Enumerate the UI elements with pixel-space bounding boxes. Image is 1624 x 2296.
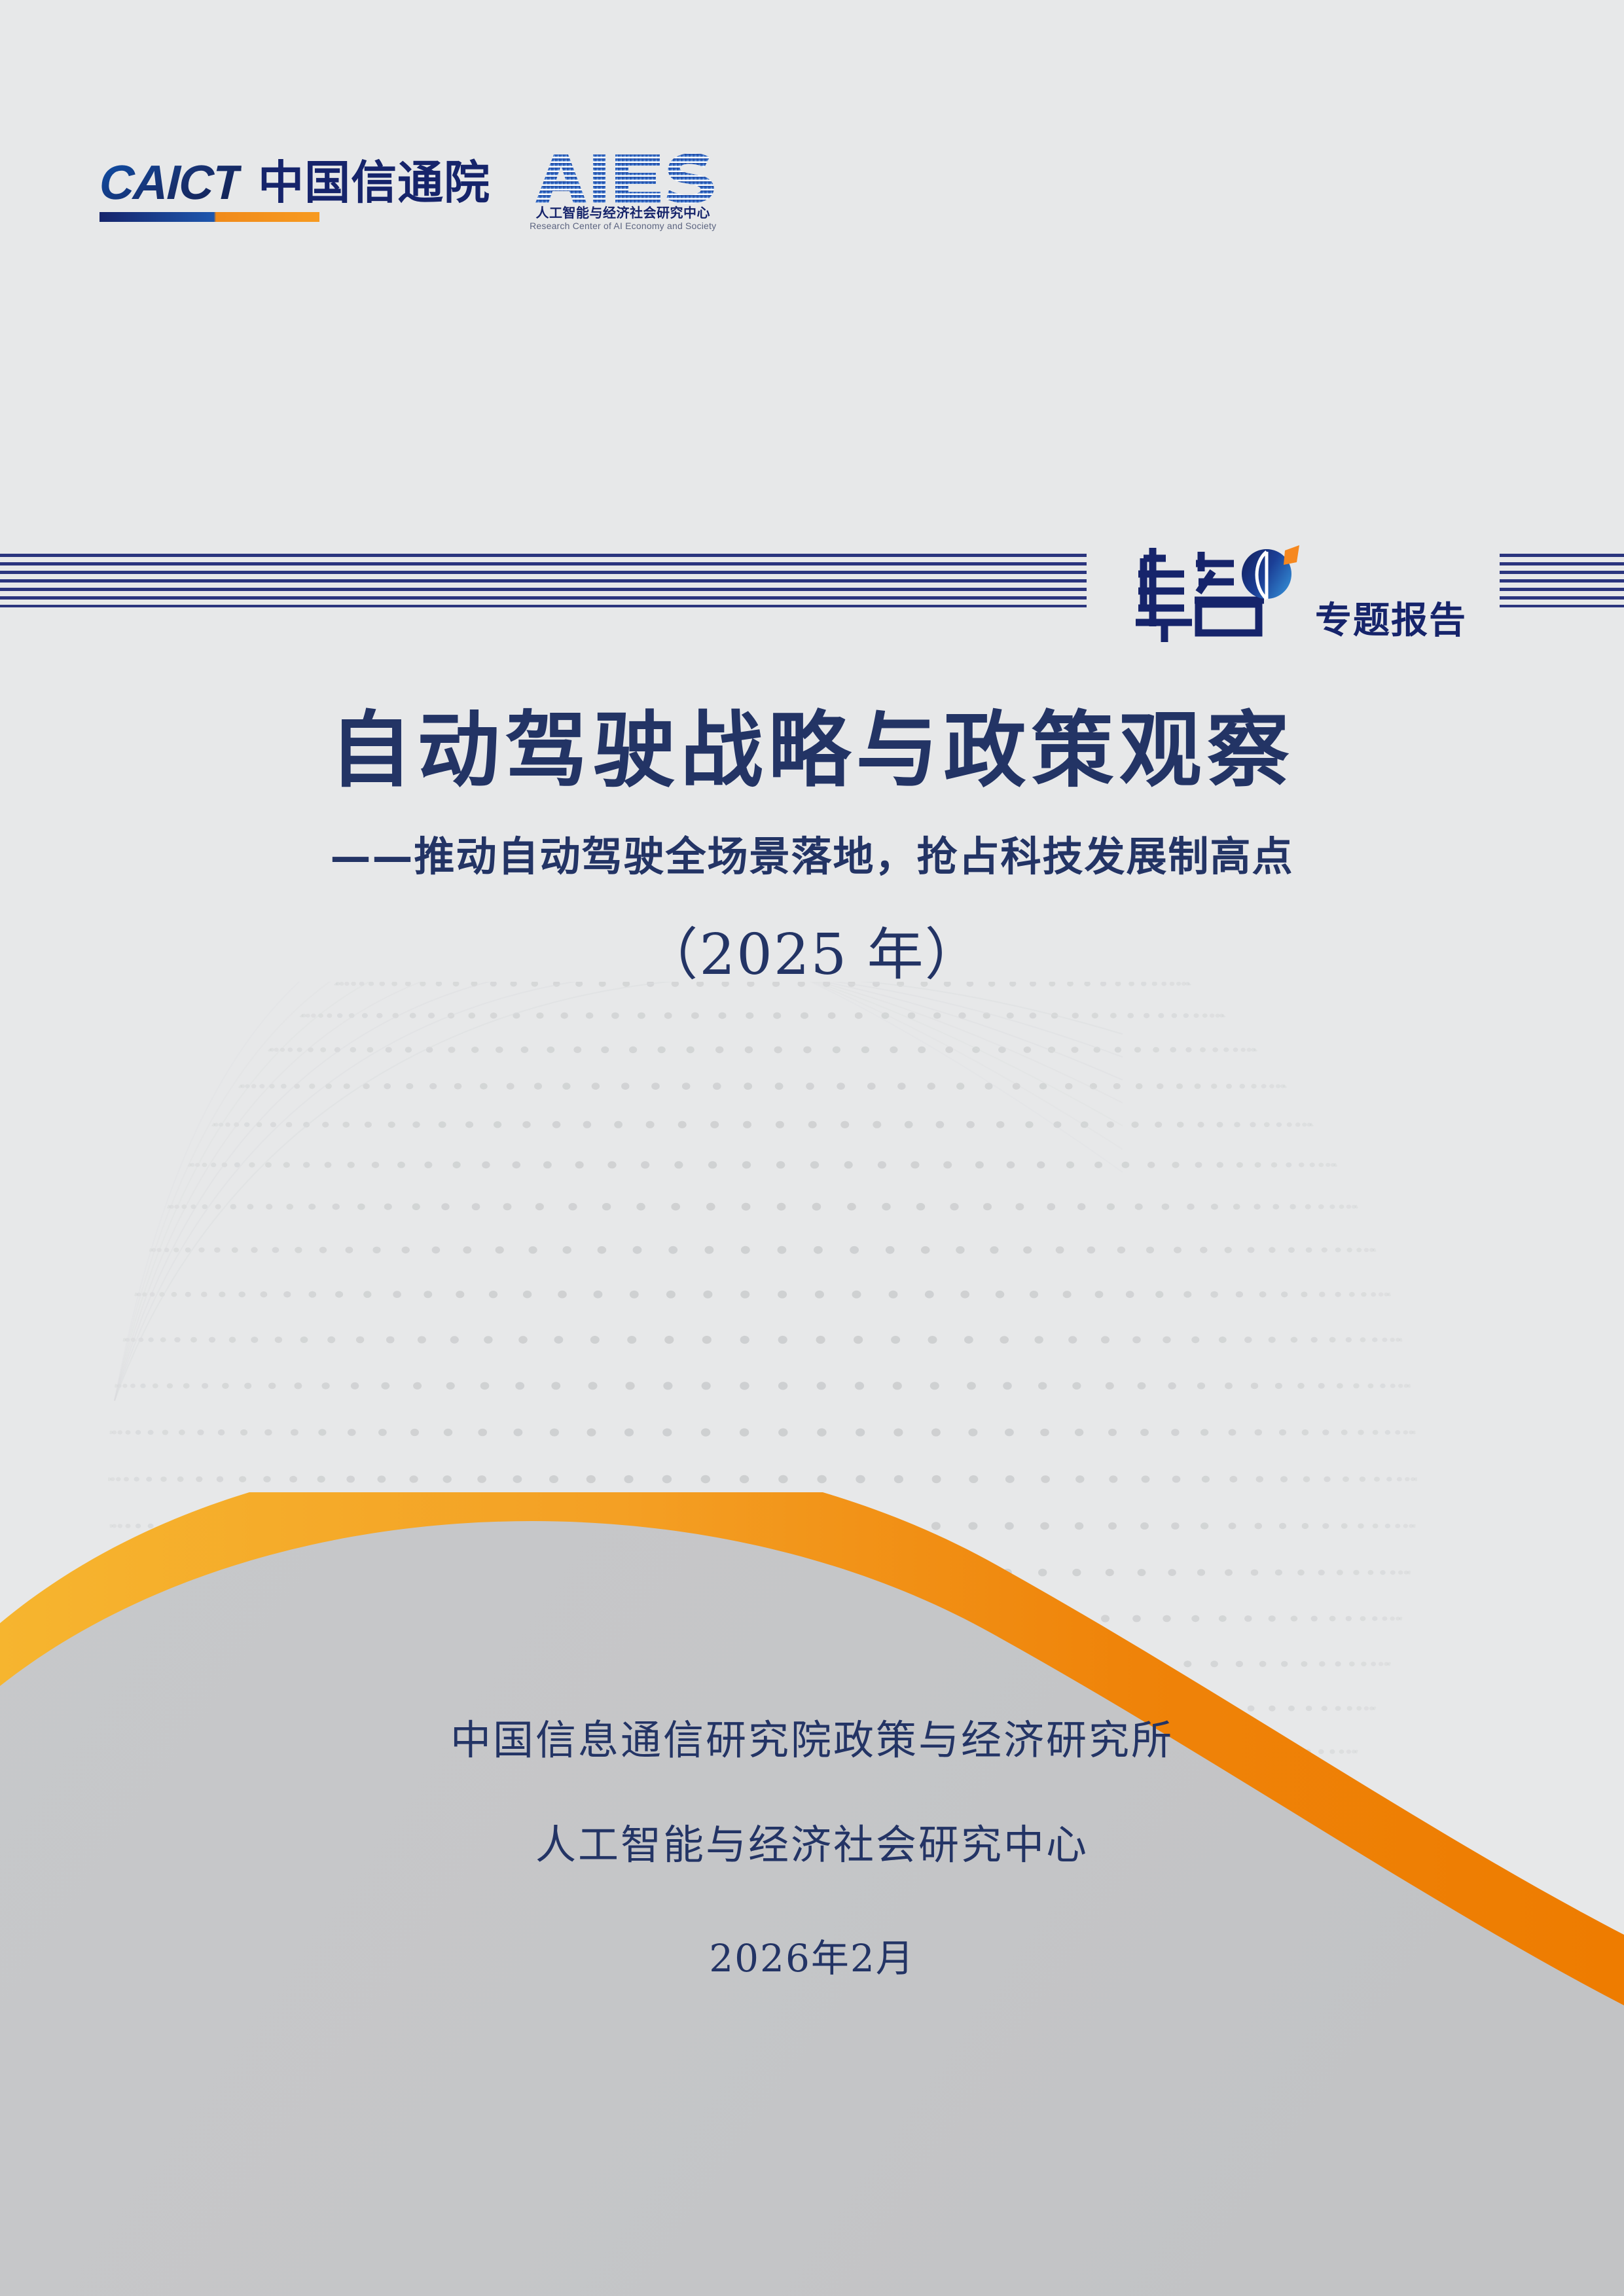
caict-chinese-name: 中国信通院 <box>258 160 490 206</box>
caict-logo: CAICT 中国信通院 <box>99 159 490 222</box>
aies-english-name: Research Center of AI Economy and Societ… <box>530 221 716 232</box>
title-block: 自动驾驶战略与政策观察 ——推动自动驾驶全场景落地，抢占科技发展制高点 （202… <box>0 704 1624 989</box>
banner-stripes-right <box>1500 554 1624 607</box>
banner-stripes-left <box>0 554 1087 607</box>
aies-chinese-name: 人工智能与经济社会研究中心 <box>535 206 710 221</box>
page-title: 自动驾驶战略与政策观察 <box>0 704 1624 798</box>
header-logo-row: CAICT 中国信通院 <box>99 149 716 232</box>
publisher-center: 人工智能与经济社会研究中心 <box>0 1820 1624 1871</box>
report-badge: 专题报告 <box>1136 530 1489 655</box>
page-subtitle: ——推动自动驾驶全场景落地，抢占科技发展制高点 <box>0 833 1624 881</box>
footer-block: 中国信息通信研究院政策与经济研究所 人工智能与经济社会研究中心 2026年2月 <box>0 1715 1624 1982</box>
publisher-institute: 中国信息通信研究院政策与经济研究所 <box>0 1715 1624 1766</box>
report-year: （2025 年） <box>0 922 1624 989</box>
badge-label: 专题报告 <box>1315 591 1467 644</box>
jizhi-logo-svg <box>1136 543 1305 642</box>
caict-underline-bar <box>99 212 319 222</box>
report-banner: 专题报告 <box>0 530 1624 655</box>
caict-logo-row: CAICT 中国信通院 <box>99 159 490 206</box>
caict-wordmark: CAICT <box>99 159 242 206</box>
jizhi-logo-icon <box>1136 543 1305 642</box>
report-cover-page: CAICT 中国信通院 <box>0 0 1624 2296</box>
publication-date: 2026年2月 <box>0 1928 1624 1982</box>
orange-flag <box>1284 545 1299 565</box>
aies-logo: 人工智能与经济社会研究中心 Research Center of AI Econ… <box>530 149 716 232</box>
aies-wordmark-icon <box>532 149 715 206</box>
